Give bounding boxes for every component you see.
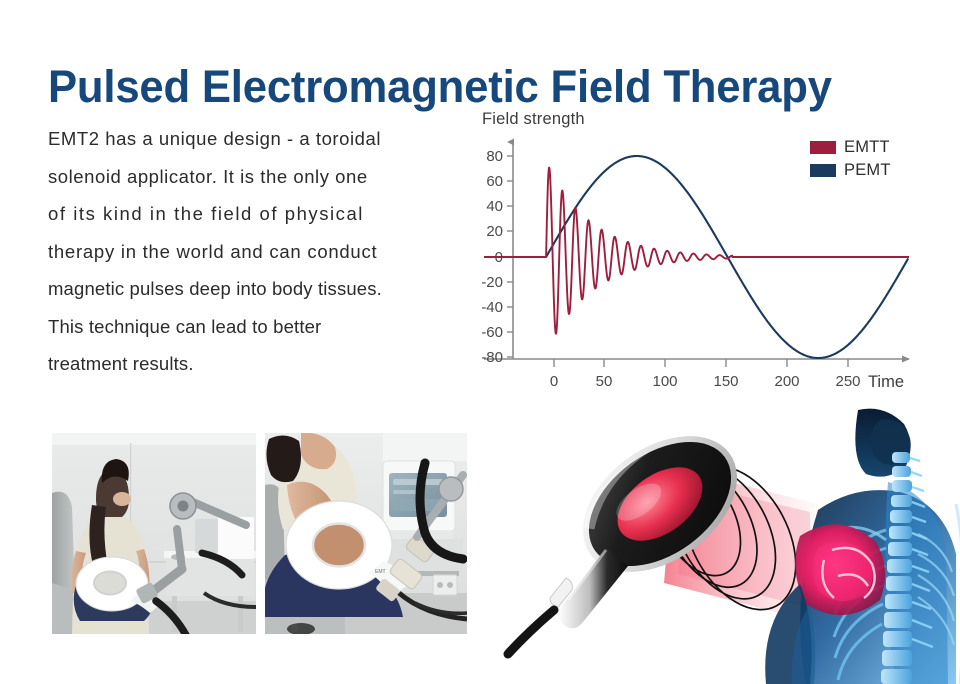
legend-item-emtt: EMTT [810, 137, 922, 158]
body-line: magnetic pulses deep into body tissues. [48, 270, 452, 308]
body-line: solenoid applicator. It is the only one [48, 158, 452, 196]
y-tick-label: -60 [481, 324, 503, 341]
y-tick-label: -20 [481, 274, 503, 291]
applicator-beam-anatomy-illustration [488, 408, 960, 684]
photo-back-treatment [52, 433, 256, 634]
y-tick-label: 80 [486, 148, 503, 165]
legend-item-pemt: PEMT [810, 160, 922, 181]
x-tick-label: 50 [596, 373, 613, 390]
body-line: This technique can lead to better [48, 308, 452, 346]
x-tick-label: 100 [652, 373, 677, 390]
y-tick-label: -40 [481, 299, 503, 316]
x-tick-label: 150 [713, 373, 738, 390]
svg-text:EMT: EMT [375, 569, 386, 575]
legend-label-pemt: PEMT [844, 161, 891, 180]
x-axis-title: Time [868, 373, 904, 391]
y-tick-label: -80 [481, 349, 503, 366]
x-tick-label: 250 [835, 373, 860, 390]
x-axis-ticks [554, 359, 848, 367]
y-tick-label: 60 [486, 173, 503, 190]
body-line: therapy in the world and can conduct [48, 233, 452, 271]
x-tick-label: 0 [550, 373, 558, 390]
x-tick-label: 200 [774, 373, 799, 390]
y-tick-label: 40 [486, 198, 503, 215]
body-line: EMT2 has a unique design - a toroidal [48, 120, 452, 158]
y-tick-label: 20 [486, 223, 503, 240]
series-line-emtt [484, 168, 909, 334]
legend-label-emtt: EMTT [844, 138, 890, 157]
x-axis-tick-labels: 0 50 100 150 200 250 [550, 373, 861, 390]
legend-swatch-pemt [810, 164, 836, 177]
legend-swatch-emtt [810, 141, 836, 154]
photo-arm-treatment: EMT [265, 433, 467, 634]
field-strength-chart: Field strength 80 [462, 104, 924, 400]
body-line: of its kind in the field of physical [48, 195, 452, 233]
body-copy: EMT2 has a unique design - a toroidal so… [48, 120, 452, 383]
chart-legend: EMTT PEMT [810, 137, 922, 183]
body-line: treatment results. [48, 345, 452, 383]
